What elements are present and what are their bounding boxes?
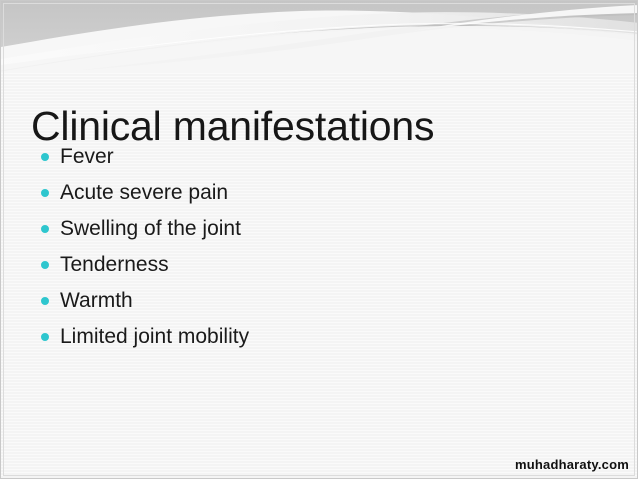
bullet-dot-icon — [41, 333, 49, 341]
bullet-list: Fever Acute severe pain Swelling of the … — [37, 139, 597, 355]
list-item: Limited joint mobility — [37, 319, 597, 355]
list-item: Acute severe pain — [37, 175, 597, 211]
list-item: Tenderness — [37, 247, 597, 283]
bullet-dot-icon — [41, 297, 49, 305]
list-item-label: Acute severe pain — [60, 180, 228, 206]
wave-ribbon-graphic — [1, 1, 638, 73]
list-item-label: Warmth — [60, 288, 133, 314]
list-item: Warmth — [37, 283, 597, 319]
bullet-dot-icon — [41, 225, 49, 233]
list-item-label: Tenderness — [60, 252, 169, 278]
presentation-slide: Clinical manifestations Fever Acute seve… — [0, 0, 638, 479]
bullet-dot-icon — [41, 261, 49, 269]
list-item-label: Limited joint mobility — [60, 324, 249, 350]
list-item: Fever — [37, 139, 597, 175]
list-item-label: Swelling of the joint — [60, 216, 241, 242]
bullet-dot-icon — [41, 189, 49, 197]
bullet-dot-icon — [41, 153, 49, 161]
list-item: Swelling of the joint — [37, 211, 597, 247]
footer-watermark: muhadharaty.com — [515, 457, 629, 472]
list-item-label: Fever — [60, 144, 114, 170]
